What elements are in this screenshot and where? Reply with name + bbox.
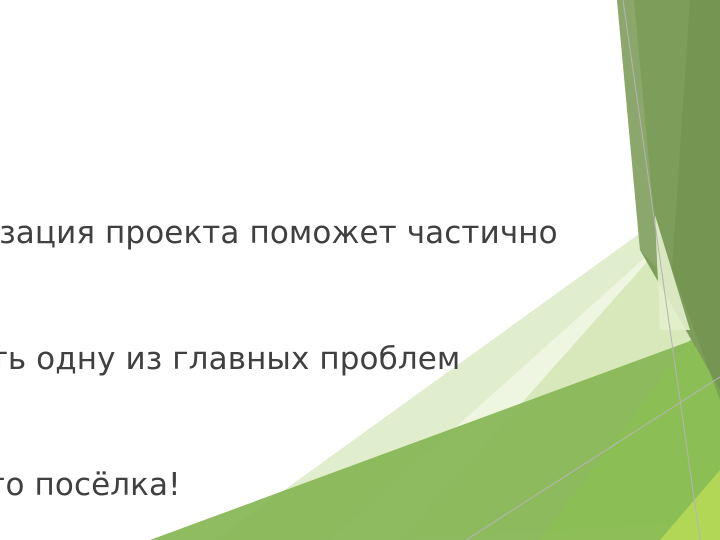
lime-sliver [660, 470, 720, 540]
dark-green-left-sliver [617, 0, 659, 270]
body-text-line-2: решить одну из главных проблем [0, 338, 602, 380]
body-text-line-3: нашего посёлка! [0, 464, 602, 506]
dark-green-upper-mass [617, 0, 720, 390]
pale-under-dark [655, 215, 690, 330]
dark-green-fold [672, 0, 720, 400]
thin-diagonal-line-top [623, 0, 700, 540]
body-text-block[interactable]: Реализация проекта поможет частично реши… [0, 128, 602, 540]
slide-canvas: Реализация проекта поможет частично реши… [0, 0, 720, 540]
body-text-line-1: Реализация проекта поможет частично [0, 212, 602, 254]
